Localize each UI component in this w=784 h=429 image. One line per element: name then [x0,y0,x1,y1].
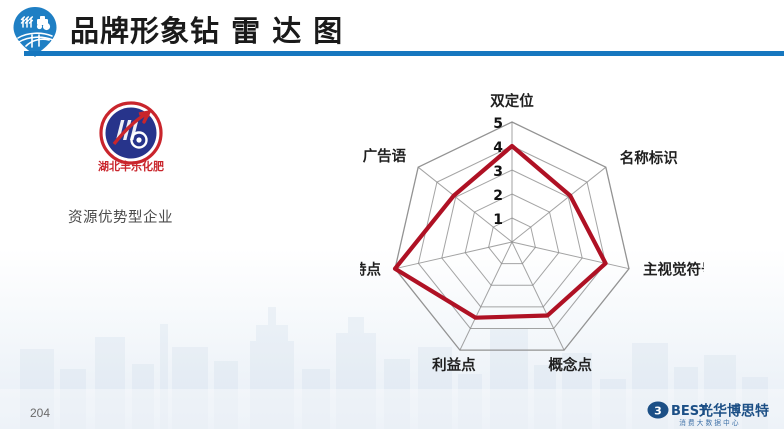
radar-category-label-1: 名称标识 [620,149,678,167]
brand-name-text: 光华博思特 [698,403,769,420]
radar-tick-label-5: 5 [493,116,503,132]
radar-chart-svg: 12345双定位名称标识主视觉符号概念点利益点支持点广告语 [360,82,704,377]
page-number: 204 [30,406,50,420]
radar-tick-label-1: 1 [493,212,503,228]
radar-chart: 12345双定位名称标识主视觉符号概念点利益点支持点广告语 [360,82,704,377]
radar-category-label-0: 双定位 [490,92,534,110]
svg-text:3: 3 [654,405,662,418]
radar-category-label-5: 支持点 [360,261,381,279]
radar-tick-label-3: 3 [493,164,503,180]
page-title: 品牌形象钻 雷 达 图 [70,8,343,50]
agriculture-map-pin-icon [10,5,60,57]
radar-category-label-2: 主视觉符号 [643,261,704,279]
radar-category-label-3: 概念点 [548,356,592,374]
company-circular-logo: 湖北丰乐化肥 [90,100,172,176]
radar-tick-label-4: 4 [493,140,503,156]
radar-axis-line-4 [460,242,512,350]
radar-category-label-6: 广告语 [363,147,407,165]
company-description: 资源优势型企业 [68,206,173,227]
brand-sub-text: 消费大数据中心 [679,418,741,427]
slide-header: 品牌形象钻 雷 达 图 [0,0,784,56]
slide-root: 品牌形象钻 雷 达 图 湖北丰乐化肥 资源优势型企业 12345双定位名称标识主… [0,0,784,429]
brand-footer-logo: 3 BEST 光华博思特 消费大数据中心 [644,398,776,428]
radar-axis-line-3 [512,242,564,350]
radar-category-label-4: 利益点 [432,356,476,374]
header-divider [24,51,784,56]
logo-caption-text: 湖北丰乐化肥 [98,159,164,173]
radar-tick-label-2: 2 [493,188,503,204]
